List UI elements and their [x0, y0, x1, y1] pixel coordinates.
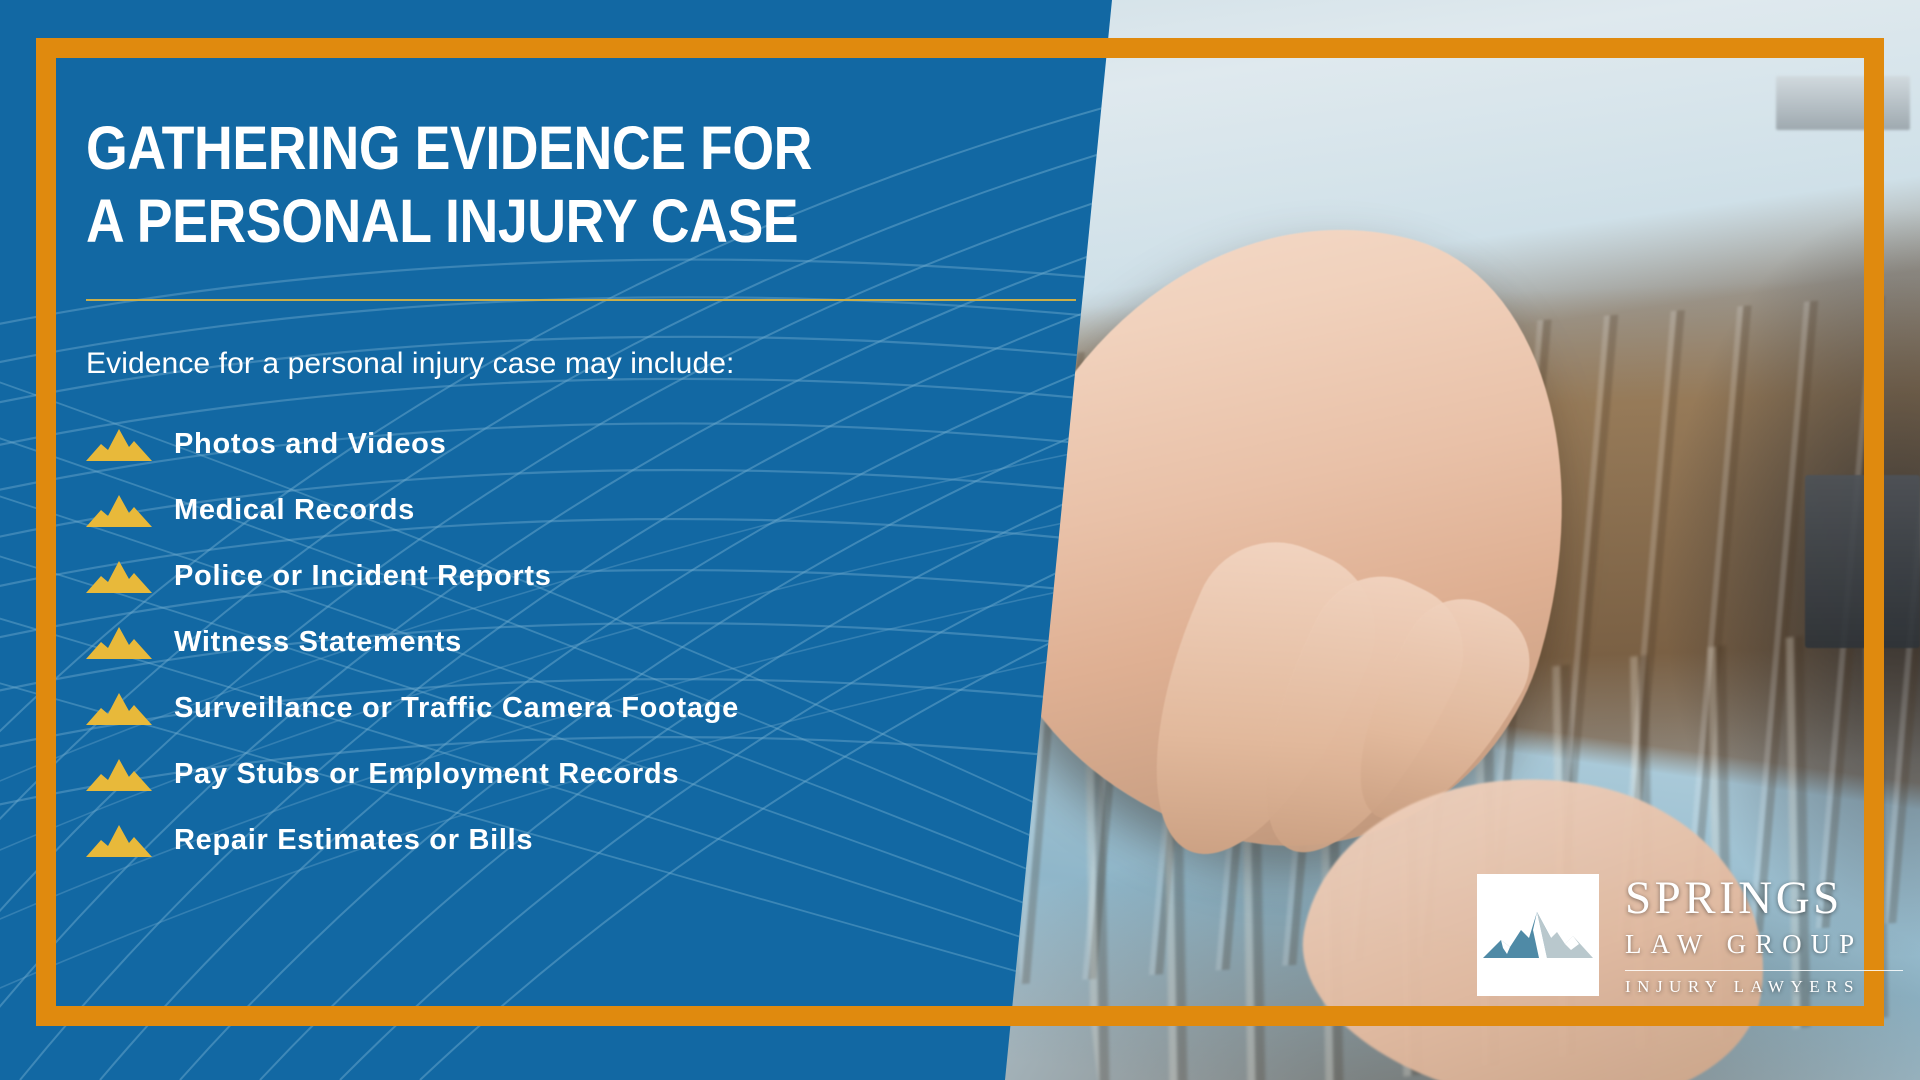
logo-tagline: INJURY LAWYERS — [1625, 978, 1903, 995]
logo-wordmark: SPRINGS LAW GROUP INJURY LAWYERS — [1625, 875, 1903, 994]
mountain-peak-icon — [86, 823, 152, 857]
list-item-label: Pay Stubs or Employment Records — [174, 758, 679, 791]
list-item: Repair Estimates or Bills — [86, 807, 1096, 873]
logo-name: SPRINGS — [1625, 875, 1903, 922]
mountain-peak-icon — [86, 427, 152, 461]
brand-logo: SPRINGS LAW GROUP INJURY LAWYERS — [1477, 874, 1903, 996]
mountain-range-logo-icon — [1477, 874, 1599, 996]
list-item-label: Witness Statements — [174, 626, 462, 659]
list-item: Pay Stubs or Employment Records — [86, 741, 1096, 807]
content-column: GATHERING EVIDENCE FOR A PERSONAL INJURY… — [86, 112, 1096, 889]
list-item-label: Police or Incident Reports — [174, 560, 552, 593]
list-item-label: Photos and Videos — [174, 428, 446, 461]
list-item: Photos and Videos — [86, 411, 1096, 477]
mountain-peak-icon — [86, 559, 152, 593]
list-item-label: Surveillance or Traffic Camera Footage — [174, 692, 739, 725]
mountain-peak-icon — [86, 757, 152, 791]
logo-divider-rule — [1625, 970, 1903, 971]
infographic-canvas: GATHERING EVIDENCE FOR A PERSONAL INJURY… — [0, 0, 1920, 1080]
mountain-peak-icon — [86, 493, 152, 527]
list-item-label: Repair Estimates or Bills — [174, 824, 533, 857]
mountain-peak-icon — [86, 625, 152, 659]
page-title: GATHERING EVIDENCE FOR A PERSONAL INJURY… — [86, 112, 975, 257]
metal-clip-top-icon — [1776, 76, 1910, 130]
list-item: Witness Statements — [86, 609, 1096, 675]
dark-binder-clip-icon — [1805, 475, 1920, 648]
list-item-label: Medical Records — [174, 494, 415, 527]
evidence-list: Photos and Videos Medical Records Police… — [86, 411, 1096, 873]
logo-practice: LAW GROUP — [1625, 926, 1903, 962]
mountain-peak-icon — [86, 691, 152, 725]
lede-text: Evidence for a personal injury case may … — [86, 347, 1096, 381]
list-item: Medical Records — [86, 477, 1096, 543]
gold-divider-rule — [86, 299, 1076, 301]
list-item: Surveillance or Traffic Camera Footage — [86, 675, 1096, 741]
list-item: Police or Incident Reports — [86, 543, 1096, 609]
